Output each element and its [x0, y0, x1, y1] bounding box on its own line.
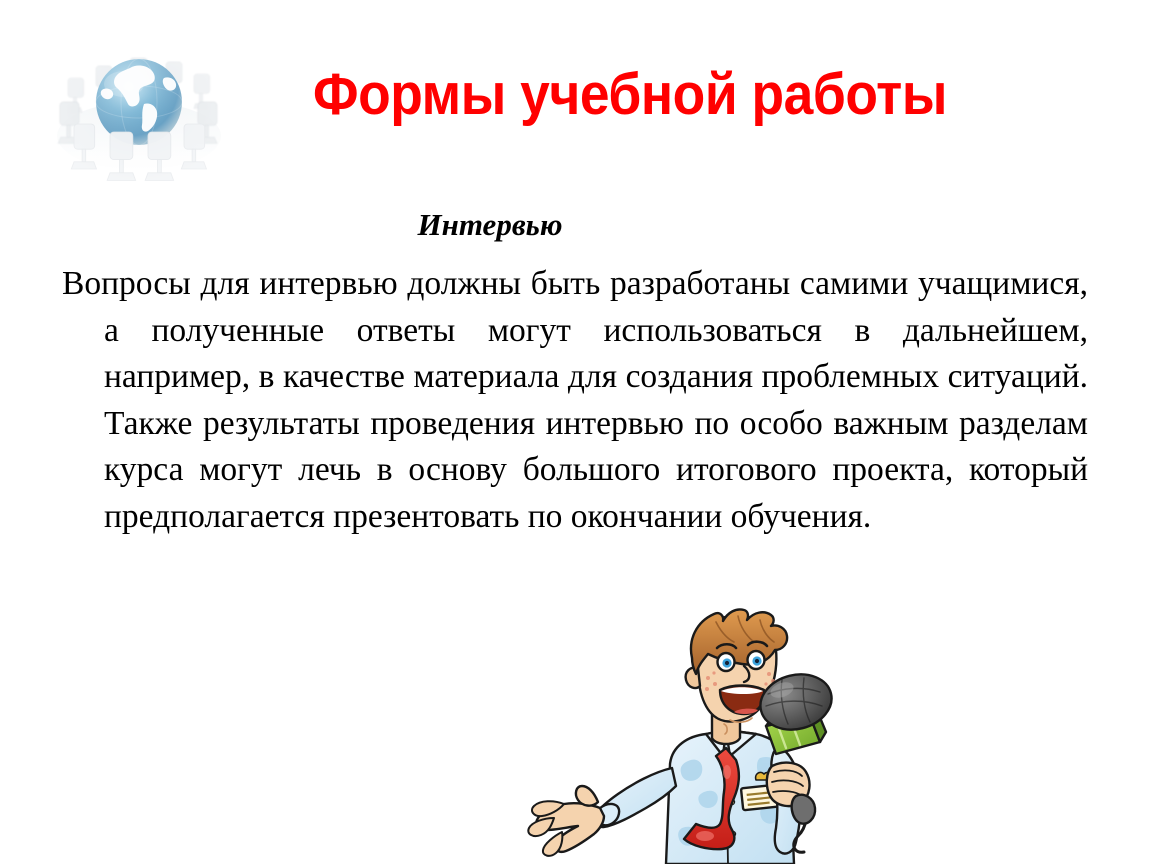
globe-with-chairs-logo	[44, 32, 234, 182]
slide-content: Интервью Вопросы для интервью должны быт…	[62, 205, 1088, 540]
page-title: Формы учебной работы	[267, 62, 994, 128]
interviewer-with-microphone-illustration	[520, 596, 890, 864]
section-subtitle: Интервью	[62, 205, 1088, 245]
slide-header: Формы учебной работы	[0, 0, 1150, 190]
presentation-slide: Формы учебной работы Интервью Вопросы дл…	[0, 0, 1150, 864]
body-paragraph: Вопросы для интервью должны быть разрабо…	[62, 261, 1088, 540]
